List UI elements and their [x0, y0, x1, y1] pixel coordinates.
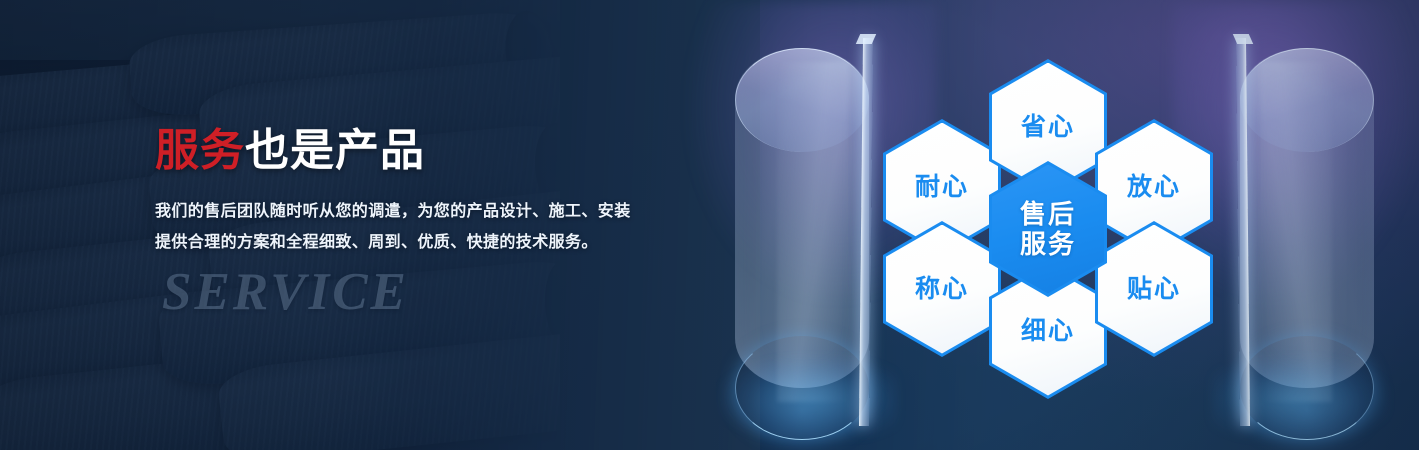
hexagon-center-line2: 服务	[1020, 229, 1076, 259]
hexagon-inner: 称心	[886, 225, 998, 354]
hexagon-inner: 贴心	[1098, 225, 1210, 354]
banner-text-block: 服务也是产品 我们的售后团队随时听从您的调遣，为您的产品设计、施工、安装 提供合…	[155, 128, 755, 258]
hexagon-label: 贴心	[1127, 275, 1181, 304]
banner-headline: 服务也是产品	[155, 128, 755, 174]
hexagon-label: 细心	[1021, 317, 1075, 346]
hexagon-center-label: 售后服务	[1020, 199, 1076, 259]
banner-description: 我们的售后团队随时听从您的调遣，为您的产品设计、施工、安装 提供合理的方案和全程…	[155, 196, 755, 258]
hexagon-label: 放心	[1127, 173, 1181, 202]
hexagon-center-line1: 售后	[1020, 199, 1076, 229]
service-watermark: SERVICE	[162, 262, 409, 322]
hexagon-cluster: 耐心 称心 省心 细心 放心 贴心	[883, 47, 1213, 407]
hexagon-label: 耐心	[915, 173, 969, 202]
hexagon-label: 省心	[1021, 113, 1075, 142]
hexagon-center-after-sales-service[interactable]: 售后服务	[989, 161, 1107, 297]
hexagon-chengxin[interactable]: 称心	[883, 221, 1001, 357]
headline-rest: 也是产品	[245, 126, 425, 175]
service-banner: SERVICE 服务也是产品 我们的售后团队随时听从您的调遣，为您的产品设计、施…	[0, 0, 1419, 450]
hexagon-tiexin[interactable]: 贴心	[1095, 221, 1213, 357]
description-line: 我们的售后团队随时听从您的调遣，为您的产品设计、施工、安装	[155, 196, 755, 227]
headline-accent: 服务	[155, 126, 245, 175]
hexagon-inner: 售后服务	[992, 165, 1104, 294]
description-line: 提供合理的方案和全程细致、周到、优质、快捷的技术服务。	[155, 227, 755, 258]
hexagon-label: 称心	[915, 275, 969, 304]
